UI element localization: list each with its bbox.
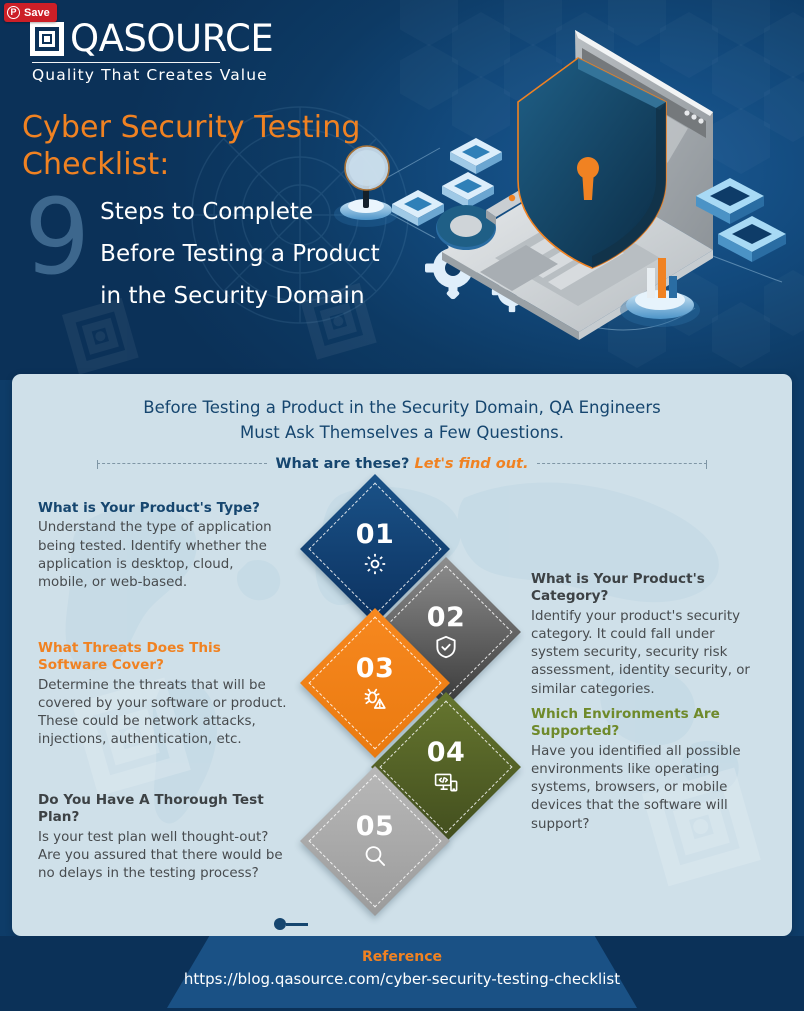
reference-url[interactable]: https://blog.qasource.com/cyber-security… (0, 970, 804, 988)
intro-line-2: Must Ask Themselves a Few Questions. (12, 421, 792, 446)
cta-divider-row: What are these? Let's find out. (12, 456, 792, 472)
reference-label: Reference (0, 949, 804, 965)
subtitle-line-3: in the Security Domain (100, 271, 379, 313)
main-content-panel: Before Testing a Product in the Security… (12, 374, 792, 936)
connector-step-01 (274, 918, 308, 930)
pinterest-save-button[interactable]: P Save (4, 3, 57, 22)
dash-left (97, 463, 267, 464)
step-body-03: Determine the threats that will be cover… (38, 677, 293, 750)
brand-logo[interactable]: QASOURCE Quality That Creates Value (30, 20, 273, 84)
header-title-block: Cyber Security Testing Checklist: 9 Step… (22, 110, 380, 313)
hero-illustration (330, 20, 804, 365)
diamond-step-05[interactable]: 05 (300, 766, 450, 916)
bottom-white-strip (0, 1011, 804, 1017)
step-body-02: Identify your product's security categor… (531, 608, 766, 699)
step-body-01: Understand the type of application being… (38, 519, 283, 592)
dash-right (537, 463, 707, 464)
step-number-01: 01 (356, 521, 395, 548)
step-heading-03: What Threats Does This Software Cover? (38, 640, 293, 675)
bug-alert-icon (362, 685, 388, 711)
step-body-04: Have you identified all possible environ… (531, 743, 763, 834)
text-block-step-02: What is Your Product's Category? Identif… (531, 571, 766, 699)
brand-tagline: Quality That Creates Value (32, 66, 273, 84)
step-number-03: 03 (356, 655, 395, 682)
step-count-number: 9 (24, 193, 90, 282)
brand-name: QASOURCE (70, 20, 273, 57)
text-block-step-05: Do You Have A Thorough Test Plan? Is you… (38, 792, 288, 883)
intro-block: Before Testing a Product in the Security… (12, 396, 792, 472)
title-line-1: Cyber Security Testing (22, 110, 380, 147)
step-number-02: 02 (427, 604, 466, 631)
magnifier-icon (362, 843, 388, 869)
shield-check-icon (433, 634, 459, 660)
step-heading-04: Which Environments Are Supported? (531, 706, 763, 741)
step-heading-05: Do You Have A Thorough Test Plan? (38, 792, 288, 827)
text-block-step-01: What is Your Product's Type? Understand … (38, 500, 283, 592)
cta-accent: Let's find out. (414, 456, 528, 472)
header-section: QASOURCE Quality That Creates Value Cybe… (0, 0, 804, 380)
subtitle-line-1: Steps to Complete (100, 187, 379, 229)
infographic-page: QASOURCE Quality That Creates Value Cybe… (0, 0, 804, 1017)
cta-question: What are these? (276, 456, 410, 472)
gear-icon (362, 551, 388, 577)
devices-code-icon (433, 769, 459, 795)
qasource-logo-icon (30, 22, 64, 56)
cta-label: What are these? Let's find out. (267, 456, 538, 472)
intro-line-1: Before Testing a Product in the Security… (12, 396, 792, 421)
text-block-step-04: Which Environments Are Supported? Have y… (531, 706, 763, 834)
pinterest-save-label: Save (24, 7, 50, 19)
step-number-05: 05 (356, 813, 395, 840)
footer-section: Reference https://blog.qasource.com/cybe… (0, 936, 804, 1017)
text-block-step-03: What Threats Does This Software Cover? D… (38, 640, 293, 750)
pinterest-icon: P (7, 6, 20, 19)
step-body-05: Is your test plan well thought-out? Are … (38, 829, 288, 884)
step-heading-01: What is Your Product's Type? (38, 500, 283, 517)
logo-divider (32, 62, 220, 63)
subtitle-line-2: Before Testing a Product (100, 229, 379, 271)
step-number-04: 04 (427, 739, 466, 766)
step-heading-02: What is Your Product's Category? (531, 571, 766, 606)
